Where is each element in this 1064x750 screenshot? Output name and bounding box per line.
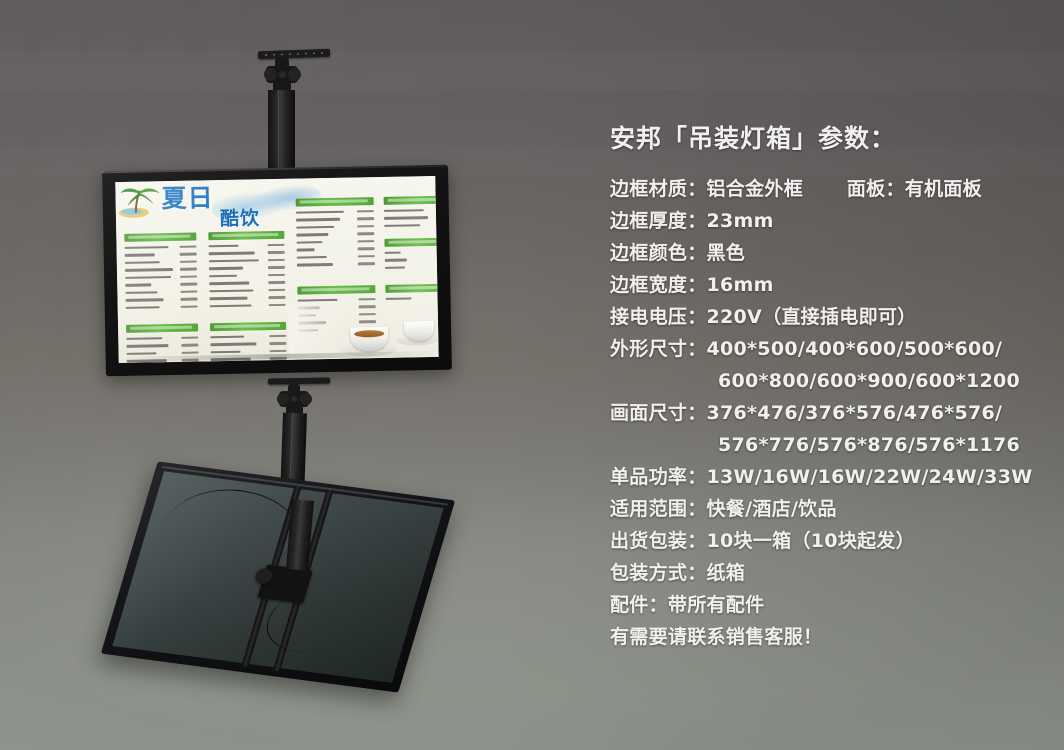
lightbox-screen: 夏日 酷饮 xyxy=(115,176,438,363)
menu-category-header xyxy=(124,233,196,242)
menu-row xyxy=(385,249,439,256)
spec-line-power: 单品功率：13W/16W/16W/22W/24W/33W xyxy=(610,461,1040,493)
menu-category-header xyxy=(384,196,439,205)
menu-row xyxy=(296,231,374,238)
spec-line-accessories: 配件：带所有配件 xyxy=(610,589,1040,621)
mount-bolt-top xyxy=(279,71,286,78)
menu-row xyxy=(125,289,197,296)
menu-row xyxy=(209,279,285,286)
mount-pivot-cap-right xyxy=(288,68,301,81)
lightbox-display: 夏日 酷饮 xyxy=(102,165,452,377)
menu-row xyxy=(384,214,439,221)
spec-title: 安邦「吊装灯箱」参数： xyxy=(610,126,1040,151)
menu-row xyxy=(209,294,285,301)
spec-line-frame-material: 边框材质：铝合金外框 面板：有机面板 xyxy=(610,173,1040,205)
menu-artwork: 夏日 酷饮 xyxy=(115,176,438,363)
menu-category-header xyxy=(208,231,284,240)
menu-row xyxy=(125,266,197,273)
menu-row xyxy=(126,304,198,311)
lightbox-back-panel xyxy=(101,461,455,692)
menu-row xyxy=(297,261,375,268)
menu-row xyxy=(209,287,285,294)
menu-column-4b xyxy=(384,238,438,273)
menu-row xyxy=(296,238,374,245)
spec-line-voltage: 接电电压：220V（直接插电即可） xyxy=(610,301,1040,333)
spec-line-picture-size: 画面尺寸：376*476/376*576/476*576/ xyxy=(610,397,1040,429)
menu-column-1 xyxy=(124,233,197,313)
menu-row xyxy=(210,333,286,340)
spec-line-outer-size-cont: 600*800/600*900/600*1200 xyxy=(610,365,1040,397)
menu-category-header xyxy=(126,324,198,333)
menu-row xyxy=(125,251,197,258)
menu-row xyxy=(209,264,285,271)
spec-line-frame-width: 边框宽度：16mm xyxy=(610,269,1040,301)
spec-line-contact: 有需要请联系销售客服！ xyxy=(610,621,1040,653)
menu-row xyxy=(297,253,375,260)
menu-category-header xyxy=(297,285,375,294)
product-photo-scene: 夏日 酷饮 xyxy=(0,0,1064,750)
spec-line-outer-size: 外形尺寸：400*500/400*600/500*600/ xyxy=(610,333,1040,365)
menu-row xyxy=(384,222,439,229)
menu-row xyxy=(385,256,439,263)
spec-frame-material: 边框材质：铝合金外框 xyxy=(610,178,803,200)
menu-row xyxy=(125,259,197,266)
menu-row xyxy=(297,246,375,253)
menu-row xyxy=(124,244,196,251)
menu-row xyxy=(210,302,286,309)
spec-line-shipping-pack: 出货包装：10块一箱（10块起发） xyxy=(610,525,1040,557)
ceiling-plate-holes xyxy=(262,51,326,57)
lower-mount-plate xyxy=(268,377,330,384)
menu-column-2 xyxy=(208,231,285,311)
mount-pivot-cap-left xyxy=(264,68,277,81)
lower-pivot-cap-left xyxy=(277,393,289,405)
menu-category-header xyxy=(210,322,286,331)
spec-line-pack-method: 包装方式：纸箱 xyxy=(610,557,1040,589)
menu-row xyxy=(210,340,286,347)
menu-category-header xyxy=(296,197,374,206)
lower-pivot-cap-right xyxy=(300,393,312,405)
spec-line-picture-size-cont: 576*776/576*876/576*1176 xyxy=(610,429,1040,461)
menu-category-header xyxy=(385,284,438,293)
support-pole-upper xyxy=(268,90,295,180)
menu-column-3 xyxy=(296,197,375,269)
menu-column-4 xyxy=(384,196,439,231)
menu-row xyxy=(296,208,374,215)
spec-line-scope: 适用范围：快餐/酒店/饮品 xyxy=(610,493,1040,525)
menu-category-header xyxy=(384,238,438,247)
menu-row xyxy=(209,249,285,256)
menu-title-sub: 酷饮 xyxy=(220,203,261,231)
menu-row xyxy=(385,264,439,271)
spec-text-block: 安邦「吊装灯箱」参数： 边框材质：铝合金外框 面板：有机面板 边框厚度：23mm… xyxy=(610,126,1040,653)
menu-row xyxy=(208,242,284,249)
menu-row xyxy=(209,257,285,264)
menu-row xyxy=(126,342,198,349)
spec-line-frame-thickness: 边框厚度：23mm xyxy=(610,205,1040,237)
menu-row xyxy=(125,296,197,303)
pole-seam-upper xyxy=(278,90,279,180)
spec-panel-material: 面板：有机面板 xyxy=(847,178,982,200)
menu-row xyxy=(296,216,374,223)
spec-line-frame-color: 边框颜色：黑色 xyxy=(610,237,1040,269)
menu-title-main: 夏日 xyxy=(161,186,213,212)
lower-mount-bolt xyxy=(291,396,297,402)
menu-row xyxy=(209,272,285,279)
menu-row xyxy=(125,274,197,281)
menu-row xyxy=(125,281,197,288)
menu-row xyxy=(384,207,439,214)
menu-row xyxy=(126,335,198,342)
menu-row xyxy=(296,223,374,230)
